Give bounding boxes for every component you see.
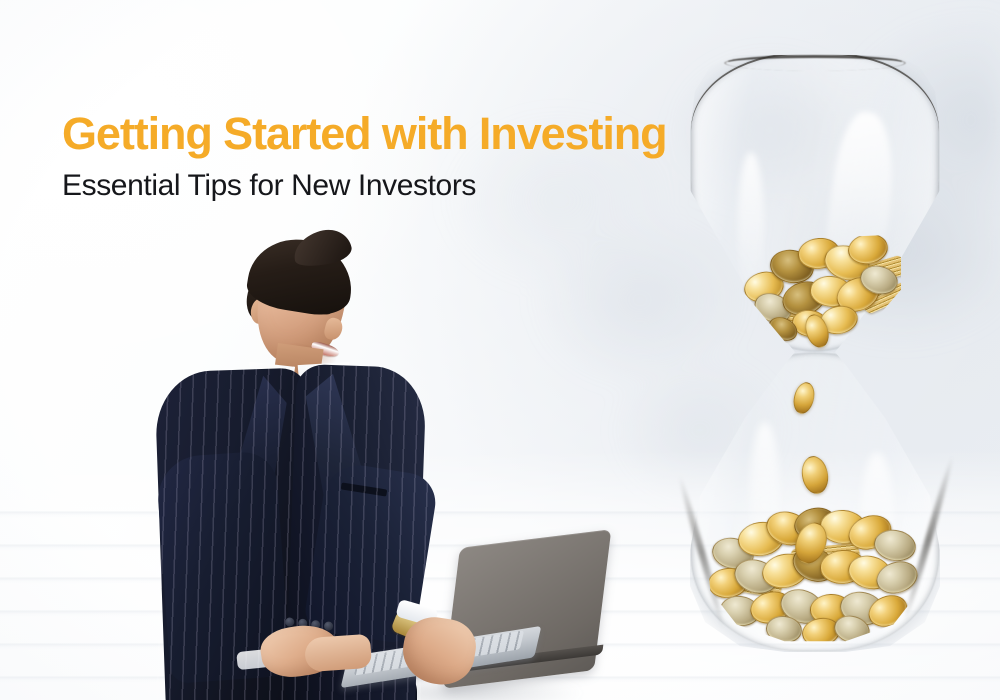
headline-block: Getting Started with Investing Essential… bbox=[62, 110, 702, 203]
hourglass-illustration bbox=[690, 52, 940, 652]
hair-icon bbox=[290, 225, 354, 270]
page-title: Getting Started with Investing bbox=[62, 110, 702, 158]
hourglass-top-rim bbox=[724, 55, 906, 71]
page-subtitle: Essential Tips for New Investors bbox=[62, 169, 702, 203]
businessman-figure bbox=[165, 218, 565, 700]
typing-fingers bbox=[304, 634, 372, 673]
investing-banner: Getting Started with Investing Essential… bbox=[0, 0, 1000, 700]
